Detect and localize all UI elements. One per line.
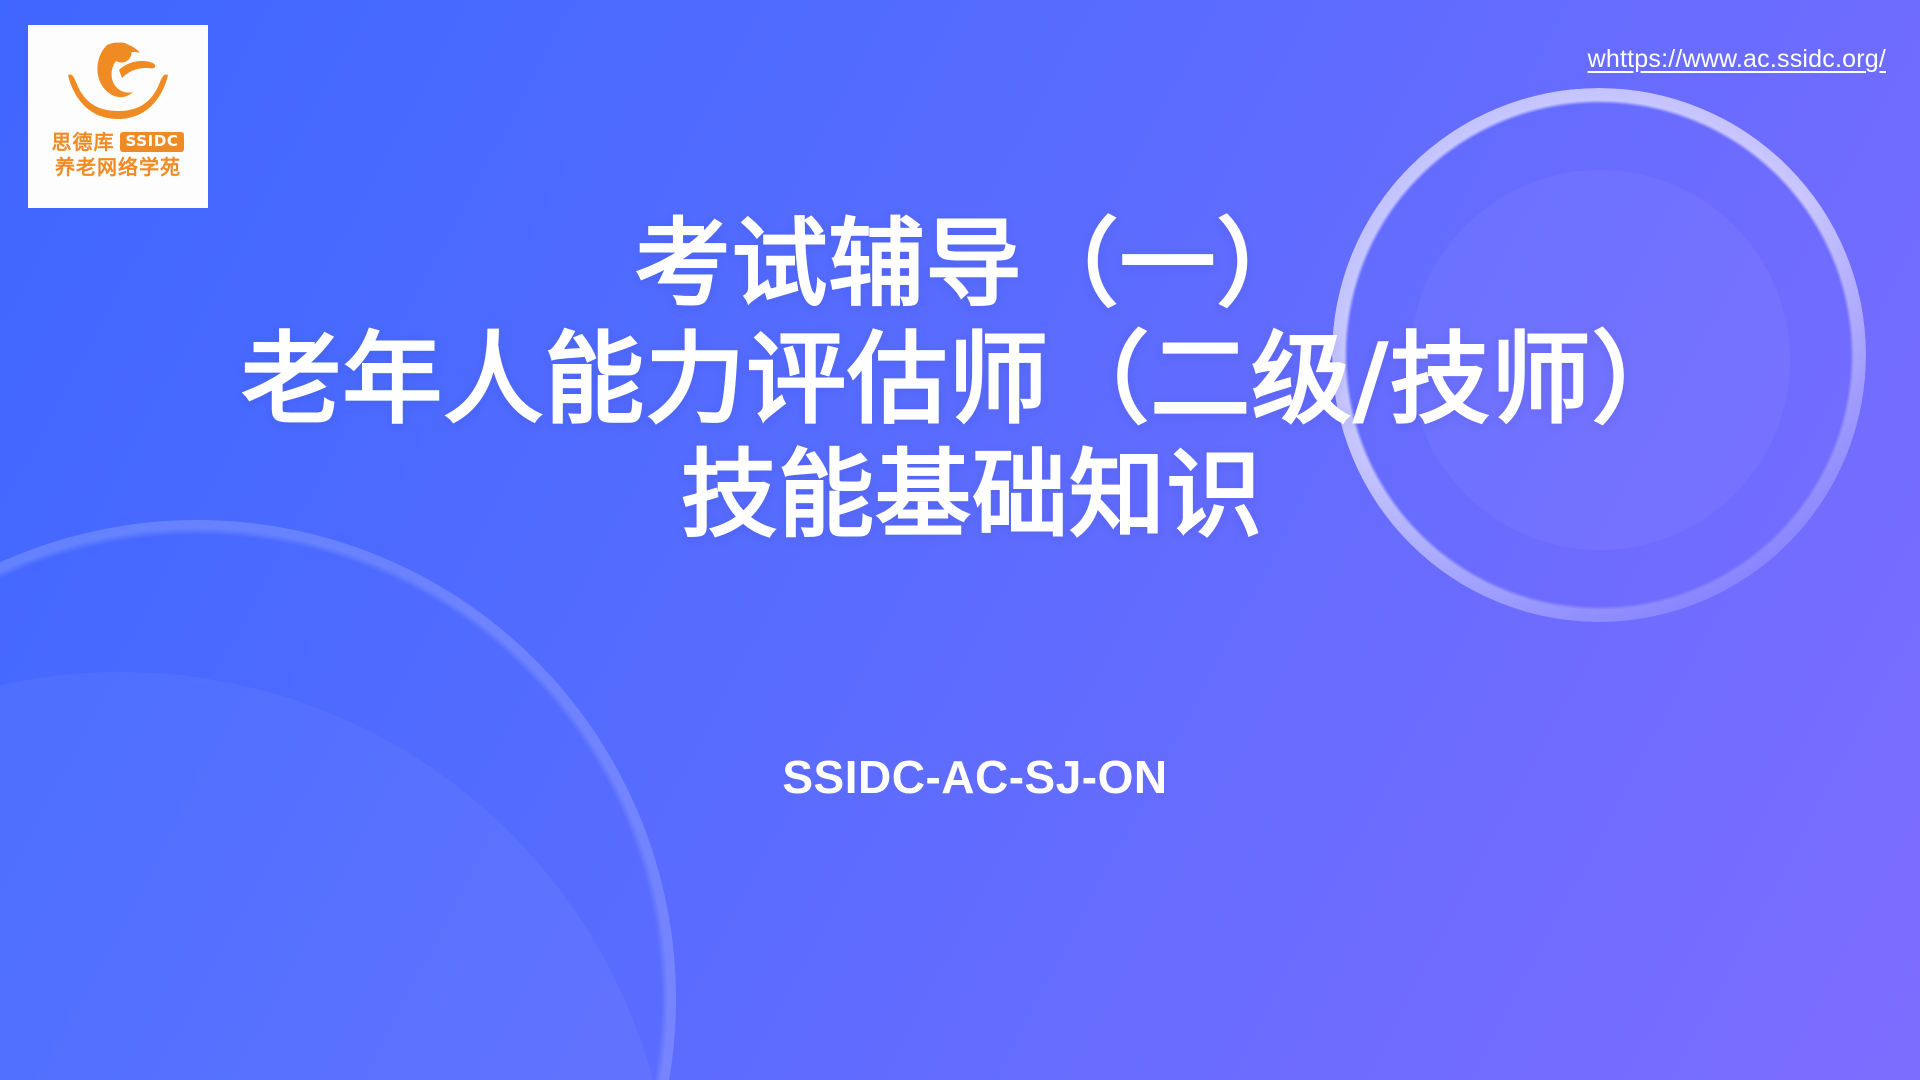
course-code-label: SSIDC-AC-SJ-ON xyxy=(0,750,1920,804)
page-title: 考试辅导（一） 老年人能力评估师（二级/技师） 技能基础知识 xyxy=(0,208,1920,553)
bottom-left-circle-glow xyxy=(0,672,672,1080)
title-line-1: 考试辅导（一） xyxy=(0,208,1920,321)
site-url-link[interactable]: whttps://www.ac.ssidc.org/ xyxy=(1588,45,1886,74)
title-slide: 思德库 SSIDC 养老网络学苑 whttps://www.ac.ssidc.o… xyxy=(0,0,1920,1080)
ssidc-figure-arc-icon xyxy=(60,37,176,129)
logo-badge-ssidc: SSIDC xyxy=(120,132,185,152)
logo-cn-primary: 思德库 xyxy=(52,131,115,153)
brand-logo: 思德库 SSIDC 养老网络学苑 xyxy=(28,25,208,208)
logo-text-row-1: 思德库 SSIDC xyxy=(52,131,185,153)
title-line-3: 技能基础知识 xyxy=(0,439,1920,552)
logo-cn-secondary: 养老网络学苑 xyxy=(55,156,181,178)
title-line-2: 老年人能力评估师（二级/技师） xyxy=(0,321,1920,439)
